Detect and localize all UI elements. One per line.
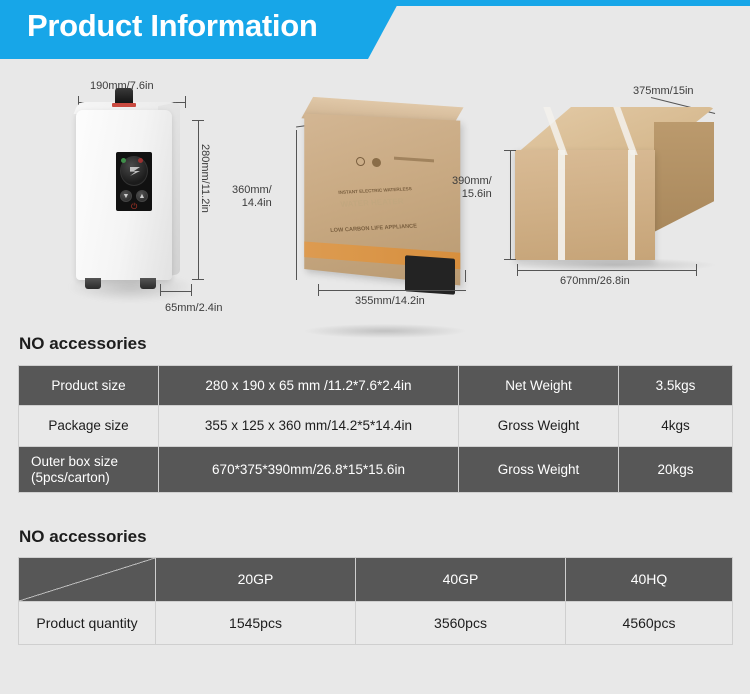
carton-product-label xyxy=(405,255,455,294)
spec-weight-label-gross-2: Gross Weight xyxy=(459,447,619,493)
container-loading-table: 20GP 40GP 40HQ Product quantity 1545pcs … xyxy=(18,557,733,645)
heater-depth-tick-left xyxy=(160,284,161,296)
heater-foot-right xyxy=(140,278,156,289)
spec-label-outer-box-line2: (5pcs/carton) xyxy=(31,470,110,485)
outerbox-height-dim-line xyxy=(510,150,511,260)
outerbox-width-dim-line xyxy=(517,270,697,271)
product-illustration-area: 190mm/7.6in ▼ ▲ ⏻ 280mm/11.2in 65mm/2.4i… xyxy=(0,62,750,327)
specification-table: Product size 280 x 190 x 65 mm /11.2*7.6… xyxy=(18,365,733,493)
loading-header-20gp: 20GP xyxy=(156,558,356,602)
power-icon: ⏻ xyxy=(131,202,137,212)
loading-table-corner-cell xyxy=(19,558,156,602)
outerbox-height-label-line2: 15.6in xyxy=(462,188,492,200)
heater-inlet-base xyxy=(112,103,136,107)
carton-shadow xyxy=(305,324,465,338)
outerbox-strap-2 xyxy=(628,150,635,260)
loading-row-label: Product quantity xyxy=(19,602,156,645)
loading-header-40gp: 40GP xyxy=(356,558,566,602)
outerbox-height-tick-top xyxy=(504,150,516,151)
temp-down-button: ▼ xyxy=(120,190,132,202)
heater-depth-dim-line xyxy=(160,291,192,292)
temp-up-button: ▲ xyxy=(136,190,148,202)
carton-width-dim-line xyxy=(318,290,466,291)
table-row: 20GP 40GP 40HQ xyxy=(19,558,733,602)
diagonal-divider-icon xyxy=(19,558,155,601)
spec-weight-label-gross-1: Gross Weight xyxy=(459,406,619,447)
outerbox-height-tick-bottom xyxy=(504,259,516,260)
product-information-page: Product Information 190mm/7.6in ▼ ▲ ⏻ 28… xyxy=(0,0,750,694)
carton-width-tick-right xyxy=(465,270,466,282)
outerbox-width-label: 670mm/26.8in xyxy=(560,275,630,288)
table-row: Package size 355 x 125 x 360 mm/14.2*5*1… xyxy=(19,406,733,447)
ce-mark-icon xyxy=(356,157,365,167)
spec-value-package-size: 355 x 125 x 360 mm/14.2*5*14.4in xyxy=(159,406,459,447)
spec-weight-label-net: Net Weight xyxy=(459,366,619,406)
page-title: Product Information xyxy=(27,8,318,44)
heater-height-tick-top xyxy=(192,120,204,121)
spec-value-product-size: 280 x 190 x 65 mm /11.2*7.6*2.4in xyxy=(159,366,459,406)
carton-height-label-line1: 360mm/ xyxy=(232,184,272,196)
heater-control-panel: ▼ ▲ ⏻ xyxy=(116,152,152,211)
outerbox-depth-label: 375mm/15in xyxy=(633,85,694,98)
spec-section-title: NO accessories xyxy=(19,334,147,354)
status-led-green-icon xyxy=(121,158,126,163)
loading-qty-40hq: 4560pcs xyxy=(566,602,733,645)
carton-height-label: 360mm/ 14.4in xyxy=(232,184,272,209)
heater-depth-label: 65mm/2.4in xyxy=(165,302,222,315)
table-row: Product quantity 1545pcs 3560pcs 4560pcs xyxy=(19,602,733,645)
heater-height-label: 280mm/11.2in xyxy=(198,144,211,213)
outerbox-width-tick-left xyxy=(517,264,518,276)
spec-label-outer-box-line1: Outer box size xyxy=(31,454,118,469)
table-row: Product size 280 x 190 x 65 mm /11.2*7.6… xyxy=(19,366,733,406)
loading-qty-40gp: 3560pcs xyxy=(356,602,566,645)
spec-weight-value-gross-2: 20kgs xyxy=(619,447,733,493)
carton-width-label: 355mm/14.2in xyxy=(355,295,425,308)
heater-foot-left xyxy=(85,278,101,289)
certification-mark-icon xyxy=(372,158,381,168)
spec-label-package-size: Package size xyxy=(19,406,159,447)
heater-depth-tick-right xyxy=(191,284,192,296)
spec-weight-value-gross-1: 4kgs xyxy=(619,406,733,447)
spec-value-outer-box-size: 670*375*390mm/26.8*15*15.6in xyxy=(159,447,459,493)
outerbox-strap-1 xyxy=(558,150,565,260)
carton-width-tick-left xyxy=(318,284,319,296)
outerbox-height-label-line1: 390mm/ xyxy=(452,175,492,187)
carton-height-dim-line xyxy=(296,130,297,280)
loading-qty-20gp: 1545pcs xyxy=(156,602,356,645)
spec-weight-value-net: 3.5kgs xyxy=(619,366,733,406)
heater-width-tick-right xyxy=(185,96,186,108)
table-row: Outer box size (5pcs/carton) 670*375*390… xyxy=(19,447,733,493)
loading-section-title: NO accessories xyxy=(19,527,147,547)
carton-height-label-line2: 14.4in xyxy=(242,197,272,209)
spec-label-product-size: Product size xyxy=(19,366,159,406)
spec-label-outer-box-size: Outer box size (5pcs/carton) xyxy=(19,447,159,493)
status-led-red-icon xyxy=(138,158,143,163)
outerbox-width-tick-right xyxy=(696,264,697,276)
heater-height-tick-bottom xyxy=(192,279,204,280)
heater-inlet-cap xyxy=(115,88,133,104)
outerbox-side-face xyxy=(654,122,714,232)
outerbox-height-label: 390mm/ 15.6in xyxy=(452,175,492,200)
loading-header-40hq: 40HQ xyxy=(566,558,733,602)
